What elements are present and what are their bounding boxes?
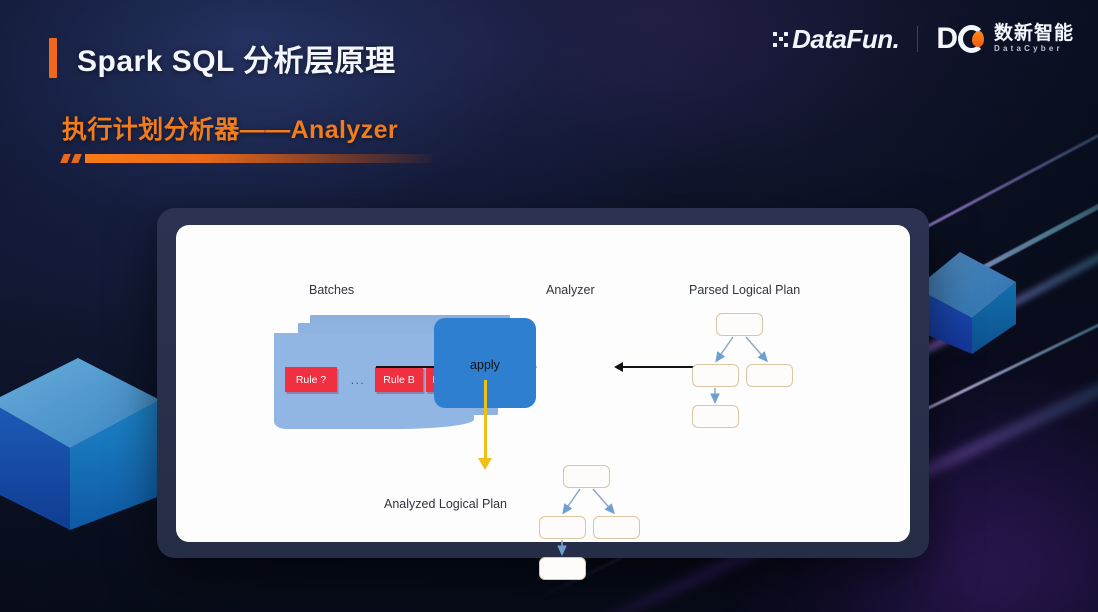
label-parsed-logical-plan: Parsed Logical Plan <box>689 283 800 297</box>
tree-node-left <box>539 516 586 539</box>
tree-node-root <box>563 465 610 488</box>
datacyber-letter-d: D <box>936 24 957 54</box>
rule-box-unknown: Rule ? <box>285 367 337 392</box>
datacyber-cn-name: 数新智能 <box>994 24 1074 44</box>
subtitle: 执行计划分析器——Analyzer <box>62 110 432 146</box>
datacyber-text: 数新智能 DataCyber <box>994 24 1074 54</box>
arrow-analyzer-output-line <box>484 380 487 462</box>
datafun-dots-icon <box>773 32 788 47</box>
parsed-logical-plan-tree <box>684 313 804 428</box>
analyzed-logical-plan-tree <box>531 465 651 580</box>
analyzer-diagram: Batches Analyzer Parsed Logical Plan Ana… <box>176 225 910 542</box>
logo-divider <box>917 26 918 52</box>
datacyber-letter-c-flame-icon <box>958 25 985 53</box>
slide-root: Spark SQL 分析层原理 执行计划分析器——Analyzer DataFu… <box>0 0 1098 612</box>
subtitle-block: 执行计划分析器——Analyzer <box>62 110 432 163</box>
tree-node-leaf <box>692 405 739 428</box>
logo-group: DataFun. D 数新智能 DataCyber <box>773 24 1074 54</box>
page-title: Spark SQL 分析层原理 <box>77 36 396 80</box>
label-batches: Batches <box>309 283 354 297</box>
rule-ellipsis: ... <box>346 373 370 387</box>
tree-node-left <box>692 364 739 387</box>
page-title-row: Spark SQL 分析层原理 <box>49 36 396 80</box>
datacyber-en-name: DataCyber <box>994 44 1074 54</box>
title-accent-bar <box>49 38 57 78</box>
datafun-logo: DataFun. <box>773 26 899 52</box>
cube-decoration-left-icon <box>0 330 160 530</box>
diagram-card-frame: Batches Analyzer Parsed Logical Plan Ana… <box>157 208 929 558</box>
diagram-card: Batches Analyzer Parsed Logical Plan Ana… <box>176 225 910 542</box>
arrow-head-left-1-icon <box>614 362 623 372</box>
datacyber-logo: D 数新智能 DataCyber <box>936 24 1074 54</box>
label-analyzer: Analyzer <box>546 283 595 297</box>
label-analyzed-logical-plan: Analyzed Logical Plan <box>384 497 507 511</box>
datafun-wordmark: DataFun. <box>792 26 899 52</box>
tree-node-leaf <box>539 557 586 580</box>
rule-box-b: Rule B <box>375 367 423 392</box>
tree-node-root <box>716 313 763 336</box>
analyzer-apply-text: apply <box>434 358 536 372</box>
arrow-head-down-icon <box>478 458 492 470</box>
tree-node-right <box>746 364 793 387</box>
datacyber-mark-icon: D <box>936 24 985 54</box>
subtitle-underline <box>62 154 432 163</box>
tree-node-right <box>593 516 640 539</box>
